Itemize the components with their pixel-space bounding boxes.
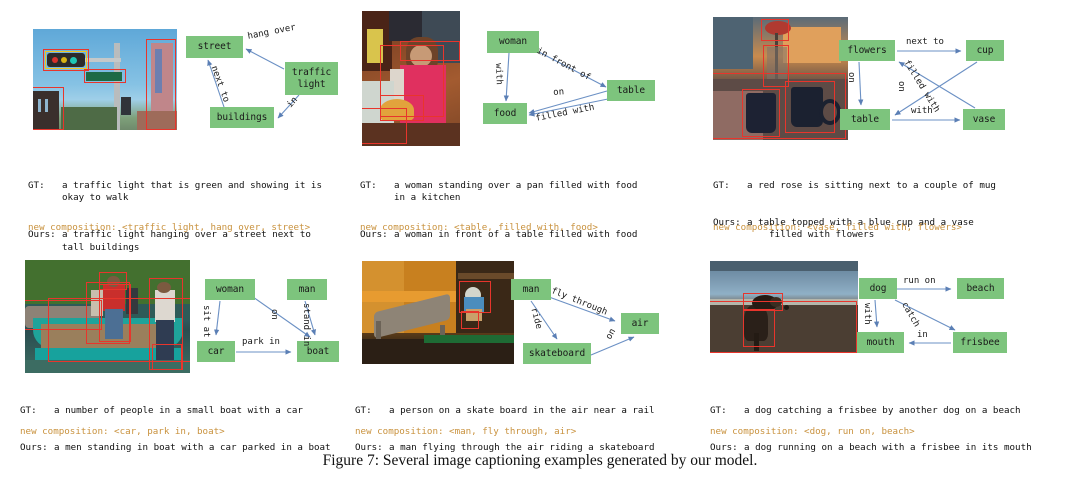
scene-graph-dog-frisbee: dog beach mouth frisbee run on with catc… <box>855 275 1030 367</box>
graph-node: vase <box>963 109 1005 130</box>
graph-node: car <box>197 341 235 362</box>
graph-edge-label: next to <box>906 38 944 47</box>
new-composition-woman-table-food: new composition: <table, filled with, fo… <box>360 222 598 234</box>
example-panel-boat-car: woman man car boat sit at on stand in pa… <box>0 245 360 445</box>
new-composition-flowers-cup-vase: new composition: <vase, filled with, flo… <box>713 222 962 234</box>
new-composition-value: <traffic light, hang over, street> <box>122 222 310 233</box>
graph-edge-label: on <box>896 81 905 92</box>
bbox-mug-left <box>742 89 780 137</box>
bbox-person <box>459 281 491 313</box>
example-image-traffic-light <box>33 29 177 130</box>
graph-edge-label: with <box>493 63 503 85</box>
graph-node: flowers <box>839 40 895 61</box>
gt-text: a person on a skate board in the air nea… <box>389 405 705 417</box>
example-image-dog-frisbee <box>710 261 858 353</box>
new-composition-value: <car, park in, boat> <box>114 426 225 437</box>
bbox-buildings <box>33 87 64 130</box>
graph-node: man <box>287 279 327 300</box>
graph-edge-label: run on <box>903 277 936 286</box>
graph-node: traffic light <box>285 62 338 95</box>
new-composition-prefix: new composition: <box>28 222 122 233</box>
scene-graph-boat-car: woman man car boat sit at on stand in pa… <box>195 275 355 367</box>
new-composition-value: <table, filled with, food> <box>454 222 598 233</box>
example-image-skateboard <box>362 261 514 364</box>
graph-edge-label: with <box>911 107 933 116</box>
graph-edge-label: stand in <box>301 303 310 346</box>
new-composition-skateboard-air: new composition: <man, fly through, air> <box>355 426 576 438</box>
graph-node: street <box>186 36 243 58</box>
gt-text: a red rose is sitting next to a couple o… <box>747 180 1073 192</box>
bbox-mug-right <box>785 81 835 133</box>
new-composition-prefix: new composition: <box>713 222 807 233</box>
example-image-flowers-cup <box>713 17 848 140</box>
graph-node: woman <box>205 279 255 300</box>
bbox-feet <box>152 344 182 370</box>
example-panel-flowers-cup-vase: flowers cup table vase next to on filled… <box>705 0 1080 245</box>
example-panel-woman-table-food: woman table food in front of with on fil… <box>360 0 705 245</box>
graph-node: frisbee <box>953 332 1007 353</box>
graph-node: woman <box>487 31 539 53</box>
new-composition-value: <man, fly through, air> <box>449 426 576 437</box>
example-panel-traffic-light: street traffic light buildings hang over… <box>0 0 360 245</box>
graph-node: beach <box>957 278 1004 299</box>
graph-node: cup <box>966 40 1004 61</box>
gt-text: a traffic light that is green and showin… <box>62 180 353 205</box>
gt-text: a dog catching a frisbee by another dog … <box>744 405 1070 417</box>
new-composition-prefix: new composition: <box>360 222 454 233</box>
new-composition-prefix: new composition: <box>355 426 449 437</box>
graph-node: table <box>840 109 890 130</box>
scene-graph-skateboard-air: man air skateboard fly through ride on <box>505 275 675 367</box>
new-composition-boat-car: new composition: <car, park in, boat> <box>20 426 225 438</box>
new-composition-prefix: new composition: <box>710 426 804 437</box>
new-composition-traffic-light: new composition: <traffic light, hang ov… <box>28 222 310 234</box>
example-image-woman-table <box>362 11 460 146</box>
gt-label: GT: <box>713 180 747 192</box>
new-composition-prefix: new composition: <box>20 426 114 437</box>
bbox-car <box>25 300 102 330</box>
gt-label: GT: <box>710 405 744 417</box>
example-panel-dog-frisbee: dog beach mouth frisbee run on with catc… <box>710 245 1080 445</box>
graph-node: food <box>483 103 527 124</box>
graph-node: dog <box>859 278 897 299</box>
bbox-rose <box>761 19 789 41</box>
gt-text: a number of people in a small boat with … <box>54 405 360 417</box>
graph-edge-label: park in <box>242 338 280 347</box>
graph-node: air <box>621 313 659 334</box>
graph-edge-label: on <box>846 72 855 83</box>
graph-edge-label: on <box>269 309 278 320</box>
graph-node: buildings <box>210 107 274 128</box>
graph-edge-label: with <box>862 303 871 325</box>
graph-node: mouth <box>857 332 904 353</box>
scene-graph-flowers-cup-vase: flowers cup table vase next to on filled… <box>835 35 1015 140</box>
scene-graph-woman-table-food: woman table food in front of with on fil… <box>475 25 670 137</box>
bbox-beach <box>710 301 857 353</box>
new-composition-value: <vase, filled with, flowers> <box>807 222 962 233</box>
new-composition-dog-frisbee: new composition: <dog, run on, beach> <box>710 426 915 438</box>
graph-node: skateboard <box>523 343 591 364</box>
gt-text: a woman standing over a pan filled with … <box>394 180 698 205</box>
example-panel-skateboard-air: man air skateboard fly through ride on G… <box>355 245 710 445</box>
example-image-boat-car <box>25 260 190 373</box>
new-composition-value: <dog, run on, beach> <box>804 426 915 437</box>
graph-node: table <box>607 80 655 101</box>
graph-edge-label: sit at <box>201 305 210 338</box>
figure-7: street traffic light buildings hang over… <box>0 0 1080 489</box>
scene-graph-traffic-light: street traffic light buildings hang over… <box>180 25 350 135</box>
graph-node: man <box>511 279 551 300</box>
graph-edge-label: in <box>917 331 928 340</box>
bbox-table <box>362 108 407 144</box>
gt-label: GT: <box>355 405 389 417</box>
bbox-tall-building <box>146 39 176 130</box>
figure-caption: Figure 7: Several image captioning examp… <box>0 452 1080 470</box>
gt-label: GT: <box>360 180 394 205</box>
graph-edge-label: on <box>553 88 564 98</box>
bbox-street-sign <box>84 69 126 83</box>
gt-label: GT: <box>20 405 54 417</box>
bbox-traffic-light <box>43 49 89 71</box>
bbox-skateboard <box>461 311 479 329</box>
gt-label: GT: <box>28 180 62 205</box>
